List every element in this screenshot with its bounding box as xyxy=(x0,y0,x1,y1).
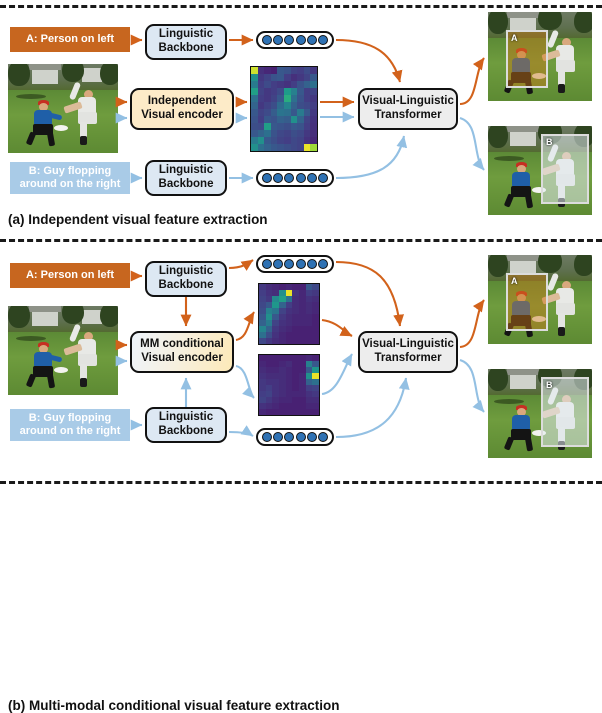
visual-linguistic-transformer-b: Visual-Linguistic Transformer xyxy=(358,331,458,373)
heatmap-cell xyxy=(258,137,265,144)
heatmap-cell xyxy=(251,95,258,102)
caption-panel-a: (a) Independent visual feature extractio… xyxy=(8,212,268,227)
heatmap-cell xyxy=(284,88,291,95)
heatmap-cell xyxy=(284,95,291,102)
query-phrase-a-b-line1: A: Person on left xyxy=(26,269,114,282)
roof-shape xyxy=(507,369,539,375)
mm-conditional-visual-encoder-line1: MM conditional xyxy=(140,338,224,352)
tree-shape-3 xyxy=(574,255,592,276)
token-dot xyxy=(284,35,294,45)
heatmap-cell xyxy=(264,81,271,88)
heatmap-cell xyxy=(297,102,304,109)
heatmap-cell xyxy=(306,338,313,344)
heatmap-cell xyxy=(304,95,311,102)
heatmap-cell xyxy=(258,123,265,130)
heatmap-cell xyxy=(291,144,298,151)
token-chain-top-a xyxy=(256,31,334,49)
linguistic-backbone-top-a: Linguistic Backbone xyxy=(145,24,227,60)
heatmap-cell xyxy=(277,130,284,137)
linguistic-backbone-bottom-a: Linguistic Backbone xyxy=(145,160,227,196)
linguistic-backbone-top-b: Linguistic Backbone xyxy=(145,261,227,297)
linguistic-backbone-top-b-line1: Linguistic xyxy=(159,265,213,279)
heatmap-cell xyxy=(310,116,317,123)
independent-visual-encoder-line1: Independent xyxy=(148,95,216,109)
token-chain-top-b xyxy=(256,255,334,273)
bounding-box-b-b: B xyxy=(541,377,589,447)
heatmap-cell xyxy=(258,109,265,116)
heatmap-cell xyxy=(291,109,298,116)
heatmap-cell xyxy=(259,338,266,344)
grass-shadow xyxy=(494,156,524,161)
tree-shape-1 xyxy=(488,12,508,34)
heatmap-cell xyxy=(291,88,298,95)
heatmap-cell xyxy=(258,130,265,137)
token-dot xyxy=(296,173,306,183)
heatmap-cell xyxy=(264,116,271,123)
heatmap-cell xyxy=(304,67,311,74)
vlt-a-line2: Transformer xyxy=(374,109,441,123)
output-image-b: B xyxy=(488,126,592,215)
heatmap-cell xyxy=(271,95,278,102)
heatmap-cell xyxy=(264,109,271,116)
grass-region xyxy=(8,90,118,153)
heatmap-cell xyxy=(297,144,304,151)
heatmap-cell xyxy=(277,74,284,81)
heatmap-cell xyxy=(304,88,311,95)
heatmap-cell xyxy=(251,116,258,123)
tree-shape-1 xyxy=(488,369,508,391)
output-image-a: A xyxy=(488,12,592,101)
heatmap-cell xyxy=(271,81,278,88)
heatmap-cell xyxy=(271,109,278,116)
token-dot xyxy=(307,35,317,45)
heatmap-cell xyxy=(264,137,271,144)
heatmap-cell xyxy=(264,67,271,74)
heatmap-cell xyxy=(291,81,298,88)
heatmap-cell xyxy=(277,67,284,74)
heatmap-cell xyxy=(264,95,271,102)
heatmap-cell xyxy=(277,144,284,151)
linguistic-backbone-bottom-a-line2: Backbone xyxy=(159,178,214,192)
heatmap-cell xyxy=(251,123,258,130)
heatmap-cell xyxy=(277,137,284,144)
query-phrase-b-b-line2: around on the right xyxy=(20,425,121,438)
independent-visual-encoder: Independent Visual encoder xyxy=(130,88,234,130)
heatmap-cell xyxy=(271,116,278,123)
token-chain-bottom-a xyxy=(256,169,334,187)
heatmap-cell xyxy=(291,123,298,130)
heatmap-cell xyxy=(304,137,311,144)
query-phrase-b-b-line1: B: Guy flopping xyxy=(29,412,111,425)
token-dot xyxy=(262,259,272,269)
heatmap-cell xyxy=(304,81,311,88)
heatmap-cell xyxy=(310,144,317,151)
tree-shape-1 xyxy=(488,255,508,277)
heatmap-cell xyxy=(271,67,278,74)
heatmap-cell xyxy=(272,409,279,415)
heatmap-cell xyxy=(258,74,265,81)
heatmap-cell xyxy=(258,88,265,95)
mm-conditional-visual-encoder-line2: Visual encoder xyxy=(141,352,223,366)
heatmap-cell xyxy=(272,338,279,344)
query-phrase-a: A: Person on left xyxy=(10,27,130,52)
query-phrase-a-line1: A: Person on left xyxy=(26,33,114,46)
input-image-a xyxy=(8,64,118,153)
heatmap-cell xyxy=(284,109,291,116)
heatmap-cell xyxy=(271,88,278,95)
heatmap-cell xyxy=(258,67,265,74)
heatmap-cell xyxy=(292,409,299,415)
house-shape-2 xyxy=(82,68,102,82)
tree-shape-1 xyxy=(8,64,30,86)
roof-shape xyxy=(507,255,539,261)
heatmap-cell xyxy=(284,123,291,130)
output-image-b-b: B xyxy=(488,369,592,458)
token-dot xyxy=(273,432,283,442)
mm-conditional-visual-encoder: MM conditional Visual encoder xyxy=(130,331,234,373)
heatmap-cell xyxy=(251,102,258,109)
heatmap-cell xyxy=(297,109,304,116)
heatmap-cell xyxy=(292,338,299,344)
heatmap-cell xyxy=(264,88,271,95)
query-phrase-b-line1: B: Guy flopping xyxy=(29,165,111,178)
heatmap-cell xyxy=(304,123,311,130)
frisbee-disc xyxy=(54,125,68,131)
roof-shape xyxy=(29,306,61,312)
player-b-sock xyxy=(558,327,565,336)
heatmap-cell xyxy=(251,109,258,116)
heatmap-cell xyxy=(258,116,265,123)
grass-shadow xyxy=(16,94,46,99)
heatmap-cell xyxy=(286,409,293,415)
token-dot xyxy=(284,259,294,269)
heatmap-cell xyxy=(271,102,278,109)
heatmap-cell xyxy=(279,338,286,344)
roof-shape xyxy=(507,126,539,132)
divider-bottom xyxy=(0,481,602,484)
token-dot xyxy=(318,173,328,183)
heatmap-cell xyxy=(310,102,317,109)
token-dot xyxy=(273,35,283,45)
linguistic-backbone-top-a-line1: Linguistic xyxy=(159,28,213,42)
heatmap-cell xyxy=(310,137,317,144)
heatmap-cell xyxy=(251,137,258,144)
query-phrase-b: B: Guy flopping around on the right xyxy=(10,162,130,194)
heatmap-cell xyxy=(258,81,265,88)
heatmap-cell xyxy=(251,144,258,151)
feature-heatmap-query-a xyxy=(258,283,320,345)
heatmap-cell xyxy=(304,116,311,123)
heatmap-cell xyxy=(251,67,258,74)
heatmap-cell xyxy=(259,409,266,415)
heatmap-cell xyxy=(271,137,278,144)
token-dot xyxy=(284,432,294,442)
tree-shape-3 xyxy=(100,64,118,85)
heatmap-cell xyxy=(258,95,265,102)
token-dot xyxy=(307,259,317,269)
heatmap-cell xyxy=(251,81,258,88)
heatmap-cell xyxy=(277,116,284,123)
token-dot xyxy=(284,173,294,183)
heatmap-cell xyxy=(297,74,304,81)
heatmap-cell xyxy=(304,144,311,151)
heatmap-cell xyxy=(271,123,278,130)
panel-independent: A: Person on left B: Guy flopping around… xyxy=(0,0,602,243)
heatmap-cell xyxy=(284,137,291,144)
heatmap-cell xyxy=(251,74,258,81)
heatmap-cell xyxy=(297,123,304,130)
heatmap-cell xyxy=(251,88,258,95)
heatmap-cell xyxy=(264,102,271,109)
linguistic-backbone-top-a-line2: Backbone xyxy=(159,42,214,56)
token-dot xyxy=(307,432,317,442)
heatmap-cell xyxy=(266,338,273,344)
heatmap-cell xyxy=(284,67,291,74)
token-dot xyxy=(307,173,317,183)
divider-top xyxy=(0,5,602,8)
heatmap-cell xyxy=(310,95,317,102)
token-dot xyxy=(273,173,283,183)
heatmap-cell xyxy=(297,130,304,137)
vlt-a-line1: Visual-Linguistic xyxy=(362,95,454,109)
linguistic-backbone-bottom-b-line1: Linguistic xyxy=(159,411,213,425)
grass-shadow xyxy=(16,336,46,341)
bounding-box-b: B xyxy=(541,134,589,204)
house-shape-2 xyxy=(82,310,102,324)
grass-region xyxy=(8,332,118,395)
bounding-box-a: A xyxy=(506,30,548,88)
heatmap-cell xyxy=(271,74,278,81)
heatmap-cell xyxy=(299,338,306,344)
heatmap-cell xyxy=(304,74,311,81)
heatmap-cell xyxy=(306,409,313,415)
tree-shape-1 xyxy=(8,306,30,328)
bounding-box-a-b-label: A xyxy=(511,276,518,286)
token-dot xyxy=(296,35,306,45)
token-chain-bottom-b xyxy=(256,428,334,446)
token-dot xyxy=(262,173,272,183)
linguistic-backbone-top-b-line2: Backbone xyxy=(159,279,214,293)
heatmap-cell xyxy=(264,144,271,151)
bounding-box-b-label: B xyxy=(546,137,553,147)
tree-shape-3 xyxy=(574,12,592,33)
heatmap-cell xyxy=(297,116,304,123)
token-dot xyxy=(262,432,272,442)
heatmap-cell xyxy=(284,116,291,123)
heatmap-cell xyxy=(284,81,291,88)
token-dot xyxy=(318,432,328,442)
heatmap-cell xyxy=(310,74,317,81)
heatmap-cell xyxy=(266,409,273,415)
independent-visual-encoder-line2: Visual encoder xyxy=(141,109,223,123)
heatmap-cell xyxy=(258,102,265,109)
heatmap-cell xyxy=(264,123,271,130)
linguistic-backbone-bottom-b: Linguistic Backbone xyxy=(145,407,227,443)
player-b-sock xyxy=(80,378,87,387)
heatmap-cell xyxy=(271,144,278,151)
player-b-sock xyxy=(80,136,87,145)
heatmap-cell xyxy=(251,130,258,137)
linguistic-backbone-bottom-a-line1: Linguistic xyxy=(159,164,213,178)
heatmap-cell xyxy=(291,116,298,123)
vlt-b-line2: Transformer xyxy=(374,352,441,366)
query-phrase-a-b: A: Person on left xyxy=(10,263,130,288)
bounding-box-b-b-label: B xyxy=(546,380,553,390)
heatmap-cell xyxy=(310,130,317,137)
heatmap-cell xyxy=(291,74,298,81)
vlt-b-line1: Visual-Linguistic xyxy=(362,338,454,352)
heatmap-cell xyxy=(277,123,284,130)
feature-heatmap-shared xyxy=(250,66,318,152)
heatmap-cell xyxy=(284,144,291,151)
heatmap-cell xyxy=(277,95,284,102)
heatmap-cell xyxy=(297,95,304,102)
caption-panel-b: (b) Multi-modal conditional visual featu… xyxy=(8,698,340,713)
token-dot xyxy=(296,432,306,442)
player-a-torso xyxy=(512,415,530,430)
query-phrase-b-b: B: Guy flopping around on the right xyxy=(10,409,130,441)
heatmap-cell xyxy=(291,102,298,109)
token-dot xyxy=(296,259,306,269)
heatmap-cell xyxy=(286,338,293,344)
divider-middle xyxy=(0,239,602,242)
heatmap-cell xyxy=(291,67,298,74)
heatmap-cell xyxy=(277,109,284,116)
heatmap-cell xyxy=(277,88,284,95)
feature-heatmap-query-b xyxy=(258,354,320,416)
output-image-a-b: A xyxy=(488,255,592,344)
heatmap-cell xyxy=(310,109,317,116)
roof-shape xyxy=(507,12,539,18)
tree-shape-3 xyxy=(100,306,118,327)
heatmap-cell xyxy=(284,102,291,109)
heatmap-cell xyxy=(304,130,311,137)
heatmap-cell xyxy=(310,123,317,130)
heatmap-cell xyxy=(277,102,284,109)
heatmap-cell xyxy=(291,95,298,102)
heatmap-cell xyxy=(277,81,284,88)
token-dot xyxy=(273,259,283,269)
heatmap-cell xyxy=(279,409,286,415)
heatmap-cell xyxy=(271,130,278,137)
input-image-b xyxy=(8,306,118,395)
heatmap-cell xyxy=(310,81,317,88)
heatmap-cell xyxy=(310,88,317,95)
heatmap-cell xyxy=(297,67,304,74)
heatmap-cell xyxy=(264,130,271,137)
heatmap-cell xyxy=(299,409,306,415)
heatmap-cell xyxy=(297,137,304,144)
grass-shadow xyxy=(494,399,524,404)
heatmap-cell xyxy=(284,130,291,137)
heatmap-cell xyxy=(312,409,319,415)
query-phrase-b-line2: around on the right xyxy=(20,178,121,191)
heatmap-cell xyxy=(258,144,265,151)
frisbee-disc xyxy=(54,367,68,373)
tree-shape-1 xyxy=(488,126,508,148)
token-dot xyxy=(318,35,328,45)
bounding-box-a-label: A xyxy=(511,33,518,43)
heatmap-cell xyxy=(312,338,319,344)
heatmap-cell xyxy=(297,81,304,88)
roof-shape xyxy=(29,64,61,70)
heatmap-cell xyxy=(297,88,304,95)
panel-conditional: A: Person on left B: Guy flopping around… xyxy=(0,243,602,486)
player-a-torso xyxy=(512,172,530,187)
token-dot xyxy=(262,35,272,45)
heatmap-cell xyxy=(304,102,311,109)
heatmap-cell xyxy=(291,130,298,137)
visual-linguistic-transformer-a: Visual-Linguistic Transformer xyxy=(358,88,458,130)
heatmap-cell xyxy=(304,109,311,116)
heatmap-cell xyxy=(291,137,298,144)
player-b-sock xyxy=(558,84,565,93)
heatmap-cell xyxy=(264,74,271,81)
heatmap-cell xyxy=(284,74,291,81)
token-dot xyxy=(318,259,328,269)
heatmap-cell xyxy=(310,67,317,74)
linguistic-backbone-bottom-b-line2: Backbone xyxy=(159,425,214,439)
bounding-box-a-b: A xyxy=(506,273,548,331)
